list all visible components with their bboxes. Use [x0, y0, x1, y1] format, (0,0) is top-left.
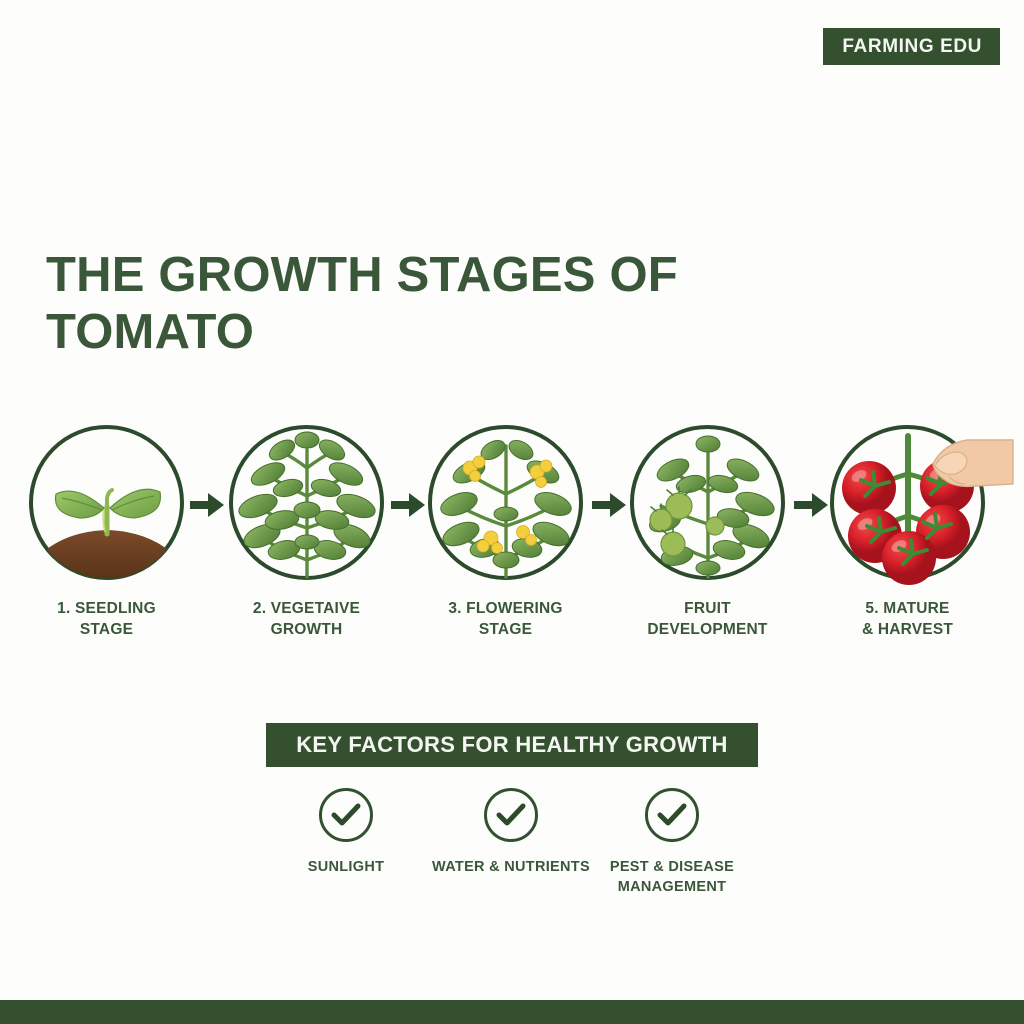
- factor-label-sunlight: SUNLIGHT: [260, 857, 432, 877]
- stage-label-line-2: GROWTH: [271, 621, 343, 638]
- red-tomato-cluster-hand-icon: [815, 410, 1001, 596]
- leafy-tomato-plant-icon: [214, 410, 400, 596]
- key-factors-row: SUNLIGHT WATER & NUTRIENTS PEST & DISEAS…: [266, 788, 758, 928]
- page-title-line-1: THE GROWTH STAGES OF: [46, 248, 678, 302]
- check-icon: [331, 803, 361, 827]
- hand-picking-icon: [933, 440, 1013, 486]
- stage-label-line-2: DEVELOPMENT: [647, 621, 767, 638]
- check-icon: [496, 803, 526, 827]
- stage-label-line-1: FRUIT: [684, 600, 731, 617]
- stage-item-flowering[interactable]: 3. FLOWERING STAGE: [418, 420, 593, 640]
- factor-label-line-1: SUNLIGHT: [308, 859, 385, 875]
- stage-label-fruit-development: FRUIT DEVELOPMENT: [620, 599, 795, 640]
- factor-item-sunlight[interactable]: SUNLIGHT: [260, 788, 432, 877]
- key-factors-banner: KEY FACTORS FOR HEALTHY GROWTH: [266, 723, 758, 767]
- seedling-in-soil-icon: [14, 410, 200, 596]
- stage-label-line-2: STAGE: [479, 621, 532, 638]
- factor-label-pest-disease: PEST & DISEASE MANAGEMENT: [586, 857, 758, 898]
- flowering-tomato-plant-icon: [413, 410, 599, 596]
- check-circle-icon: [484, 788, 538, 842]
- check-circle-icon: [319, 788, 373, 842]
- stage-label-seedling: 1. SEEDLING STAGE: [19, 599, 194, 640]
- stage-label-vegetative: 2. VEGETAIVE GROWTH: [219, 599, 394, 640]
- stage-circle-fruit-development: [630, 425, 785, 580]
- factor-item-pest-disease[interactable]: PEST & DISEASE MANAGEMENT: [586, 788, 758, 898]
- footer-bar: [0, 1000, 1024, 1024]
- page-title: THE GROWTH STAGES OF TOMATO: [46, 247, 706, 362]
- stage-item-seedling[interactable]: 1. SEEDLING STAGE: [19, 420, 194, 640]
- page-title-line-2: TOMATO: [46, 305, 254, 359]
- stage-label-line-1: 1. SEEDLING: [57, 600, 156, 617]
- check-circle-icon: [645, 788, 699, 842]
- stage-item-fruit-development[interactable]: FRUIT DEVELOPMENT: [620, 420, 795, 640]
- stage-label-line-1: 5. MATURE: [865, 600, 949, 617]
- stage-label-mature-harvest: 5. MATURE & HARVEST: [820, 599, 995, 640]
- stage-label-line-2: & HARVEST: [862, 621, 953, 638]
- stage-label-flowering: 3. FLOWERING STAGE: [418, 599, 593, 640]
- stage-label-line-1: 3. FLOWERING: [448, 600, 562, 617]
- factor-label-line-1: WATER & NUTRIENTS: [432, 859, 590, 875]
- growth-stages-strip: 1. SEEDLING STAGE: [0, 420, 1024, 670]
- brand-badge: FARMING EDU: [823, 28, 1000, 65]
- stage-circle-flowering: [428, 425, 583, 580]
- factor-item-water-nutrients[interactable]: WATER & NUTRIENTS: [425, 788, 597, 877]
- factor-label-line-2: MANAGEMENT: [618, 879, 727, 895]
- check-icon: [657, 803, 687, 827]
- stage-circle-vegetative: [229, 425, 384, 580]
- stage-item-vegetative[interactable]: 2. VEGETAIVE GROWTH: [219, 420, 394, 640]
- factor-label-line-1: PEST & DISEASE: [610, 859, 734, 875]
- factor-label-water-nutrients: WATER & NUTRIENTS: [425, 857, 597, 877]
- green-tomato-fruits: [650, 487, 724, 556]
- green-tomato-plant-icon: [615, 410, 801, 596]
- stage-circle-mature-harvest: [830, 425, 985, 580]
- stage-circle-seedling: [29, 425, 184, 580]
- stage-label-line-2: STAGE: [80, 621, 133, 638]
- stage-label-line-1: 2. VEGETAIVE: [253, 600, 360, 617]
- stage-item-mature-harvest[interactable]: 5. MATURE & HARVEST: [820, 420, 995, 640]
